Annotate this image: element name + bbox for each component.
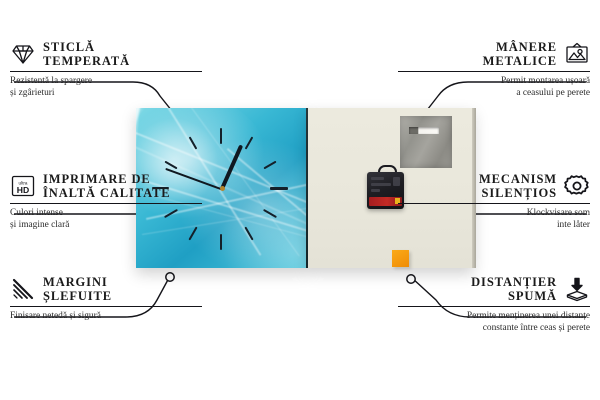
svg-text:HD: HD (17, 185, 29, 195)
callout-tempered-glass: STICLĂTEMPERATĂ Rezistentă la spargereși… (10, 40, 202, 99)
polished-edges-icon (10, 276, 36, 302)
callout-subtitle: Culori intenseși imagine clară (10, 208, 202, 231)
callout-subtitle: Permite menținerea unei distanțeconstant… (398, 311, 590, 334)
callout-rule (10, 306, 202, 307)
callout-title: MARGINIȘLEFUITE (43, 275, 112, 303)
callout-polished-edges: MARGINIȘLEFUITE Finisare netedă și sigur… (10, 275, 202, 323)
callout-head: MECANISMSILENȚIOS (398, 172, 590, 200)
hour-marker-6 (220, 234, 222, 250)
callout-rule (10, 71, 202, 72)
callout-title: MÂNEREMETALICE (483, 40, 557, 68)
callout-title: IMPRIMARE DEÎNALTĂ CALITATE (43, 172, 171, 200)
callout-foam-spacer: DISTANȚIERSPUMĂ Permite menținerea unei … (398, 275, 590, 334)
callout-title: DISTANȚIERSPUMĂ (471, 275, 557, 303)
callout-head: ultra HD IMPRIMARE DEÎNALTĂ CALITATE (10, 172, 202, 200)
clock-center-cap (220, 186, 225, 191)
hanger-slot (409, 127, 439, 134)
ultra-hd-icon: ultra HD (10, 173, 36, 199)
movement-detail (371, 183, 391, 186)
callout-silent-mechanism: MECANISMSILENȚIOS Klockvisare sominte lå… (398, 172, 590, 231)
hour-marker-3 (270, 187, 288, 190)
foam-spacer (392, 250, 409, 267)
hour-marker-12 (220, 128, 222, 144)
movement-detail (371, 189, 380, 192)
callout-title: STICLĂTEMPERATĂ (43, 40, 130, 68)
foam-spacer-icon (564, 276, 590, 302)
callout-subtitle: Finisare netedă și sigură (10, 311, 202, 322)
callout-title: MECANISMSILENȚIOS (479, 172, 557, 200)
callout-rule (398, 306, 590, 307)
infographic-canvas: STICLĂTEMPERATĂ Rezistentă la spargereși… (0, 0, 600, 400)
callout-head: STICLĂTEMPERATĂ (10, 40, 202, 68)
callout-rule (398, 71, 590, 72)
hanging-frame-icon (564, 41, 590, 67)
movement-detail (371, 177, 384, 180)
gear-icon (564, 173, 590, 199)
callout-subtitle: Klockvisare sominte låter (398, 208, 590, 231)
metal-hanger-plate (400, 116, 452, 168)
diamond-icon (10, 41, 36, 67)
callout-rule (398, 203, 590, 204)
callout-subtitle: Permit montarea ușoarăa ceasului pe pere… (398, 76, 590, 99)
callout-head: DISTANȚIERSPUMĂ (398, 275, 590, 303)
callout-metal-handles: MÂNEREMETALICE Permit montarea ușoarăa c… (398, 40, 590, 99)
callout-subtitle: Rezistentă la spargereși zgârieturi (10, 76, 202, 99)
callout-head: MARGINIȘLEFUITE (10, 275, 202, 303)
callout-high-quality-print: ultra HD IMPRIMARE DEÎNALTĂ CALITATE Cul… (10, 172, 202, 231)
callout-rule (10, 203, 202, 204)
callout-head: MÂNEREMETALICE (398, 40, 590, 68)
